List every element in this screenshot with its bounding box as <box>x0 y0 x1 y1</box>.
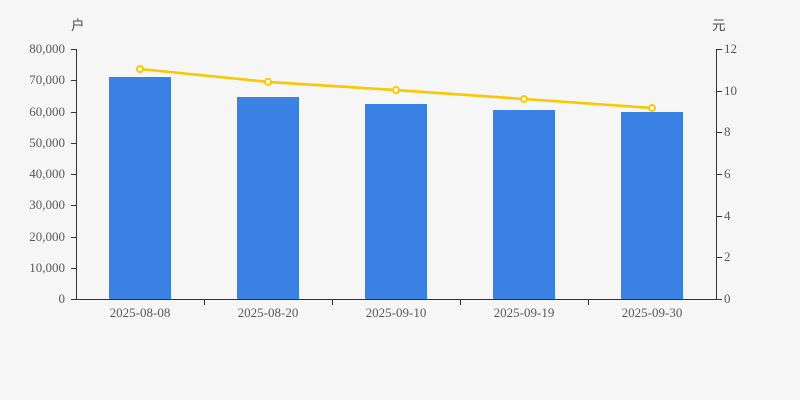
left-tick-label: 30,000 <box>29 198 65 211</box>
right-tick-mark <box>717 49 722 50</box>
right-tick-mark <box>717 299 722 300</box>
bar-series-layer <box>76 49 716 299</box>
right-tick-mark <box>717 174 722 175</box>
right-tick-mark <box>717 257 722 258</box>
left-axis-unit-label: 户 <box>71 20 85 34</box>
x-axis-line <box>76 299 717 300</box>
right-tick-mark <box>717 132 722 133</box>
bar[interactable] <box>365 104 427 299</box>
left-tick-label: 70,000 <box>29 73 65 86</box>
right-tick-label: 10 <box>724 84 737 97</box>
x-tick-label[interactable]: 2025-09-30 <box>622 306 683 319</box>
right-tick-mark <box>717 91 722 92</box>
x-tick-label[interactable]: 2025-09-19 <box>494 306 555 319</box>
x-tick-mark <box>332 300 333 305</box>
bar[interactable] <box>621 112 683 299</box>
right-axis-unit-label: 元 <box>712 20 726 34</box>
bar[interactable] <box>237 97 299 299</box>
right-tick-label: 8 <box>724 125 731 138</box>
right-tick-label: 2 <box>724 250 731 263</box>
x-tick-label[interactable]: 2025-08-20 <box>238 306 299 319</box>
x-tick-mark <box>204 300 205 305</box>
x-tick-label[interactable]: 2025-09-10 <box>366 306 427 319</box>
left-tick-label: 20,000 <box>29 230 65 243</box>
left-tick-label: 10,000 <box>29 261 65 274</box>
left-tick-mark <box>71 299 76 300</box>
x-tick-label[interactable]: 2025-08-08 <box>110 306 171 319</box>
left-tick-label: 40,000 <box>29 167 65 180</box>
right-tick-label: 12 <box>724 42 737 55</box>
left-tick-label: 60,000 <box>29 105 65 118</box>
right-tick-label: 6 <box>724 167 731 180</box>
left-tick-label: 0 <box>59 292 66 305</box>
x-tick-mark <box>460 300 461 305</box>
left-tick-label: 50,000 <box>29 136 65 149</box>
right-tick-mark <box>717 216 722 217</box>
x-tick-mark <box>588 300 589 305</box>
right-tick-label: 0 <box>724 292 731 305</box>
right-tick-label: 4 <box>724 209 731 222</box>
chart-container: 户 元 010,00020,00030,00040,00050,00060,00… <box>0 0 800 400</box>
bar[interactable] <box>109 77 171 299</box>
left-tick-label: 80,000 <box>29 42 65 55</box>
bar[interactable] <box>493 110 555 299</box>
